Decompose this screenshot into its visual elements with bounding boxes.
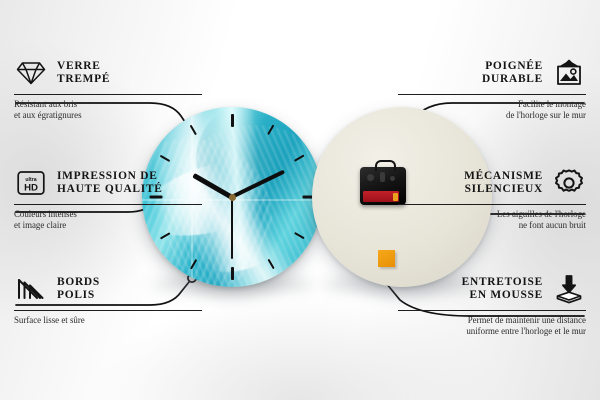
feature-description: Les aiguilles de l'horloge ne font aucun… bbox=[398, 209, 586, 231]
feature-divider bbox=[14, 94, 202, 95]
feature-title: IMPRESSION DE HAUTE QUALITÉ bbox=[57, 170, 163, 197]
feature-title: VERRE TREMPÉ bbox=[57, 60, 110, 87]
feature-description: Surface lisse et sûre bbox=[14, 315, 202, 326]
hanger-tab-icon bbox=[375, 160, 396, 171]
feature-divider bbox=[14, 310, 202, 311]
polished-edges-icon bbox=[14, 272, 48, 306]
ultra-hd-icon: ultra HD bbox=[14, 166, 48, 200]
feature-title: BORDS POLIS bbox=[57, 276, 100, 303]
feature-impression-haute-qualite: ultra HD IMPRESSION DE HAUTE QUALITÉ Cou… bbox=[14, 166, 202, 231]
foam-spacer bbox=[378, 250, 395, 267]
foam-spacer-icon bbox=[552, 272, 586, 306]
feature-poignee-durable: POIGNÉE DURABLE Facilite le montage de l… bbox=[398, 56, 586, 121]
feature-divider bbox=[14, 204, 202, 205]
diamond-icon bbox=[14, 56, 48, 90]
gear-icon bbox=[552, 166, 586, 200]
mechanism-detail-2 bbox=[380, 172, 385, 182]
feature-header: BORDS POLIS bbox=[14, 272, 202, 306]
feature-divider bbox=[398, 310, 586, 311]
feature-divider bbox=[398, 94, 586, 95]
feature-title: POIGNÉE DURABLE bbox=[482, 60, 543, 87]
feature-description: Facilite le montage de l'horloge sur le … bbox=[398, 99, 586, 121]
feature-entretoise-en-mousse: ENTRETOISE EN MOUSSE Permet de maintenir… bbox=[398, 272, 586, 337]
feature-description: Couleurs intenses et image claire bbox=[14, 209, 202, 231]
feature-description: Résistant aux bris et aux égratignures bbox=[14, 99, 202, 121]
feature-header: VERRE TREMPÉ bbox=[14, 56, 202, 90]
clock-tick-6 bbox=[231, 267, 234, 280]
feature-verre-trempe: VERRE TREMPÉ Résistant aux bris et aux é… bbox=[14, 56, 202, 121]
infographic-canvas: VERRE TREMPÉ Résistant aux bris et aux é… bbox=[0, 0, 600, 400]
feature-mecanisme-silencieux: MÉCANISME SILENCIEUX Les aiguilles de l'… bbox=[398, 166, 586, 231]
feature-description: Permet de maintenir une distance uniform… bbox=[398, 315, 586, 337]
feature-header: MÉCANISME SILENCIEUX bbox=[398, 166, 586, 200]
feature-header: POIGNÉE DURABLE bbox=[398, 56, 586, 90]
battery bbox=[363, 191, 399, 202]
picture-hanger-icon bbox=[552, 56, 586, 90]
clock-tick-12 bbox=[231, 114, 234, 127]
feature-title: ENTRETOISE EN MOUSSE bbox=[462, 276, 543, 303]
feature-header: ENTRETOISE EN MOUSSE bbox=[398, 272, 586, 306]
mechanism-detail-3 bbox=[390, 176, 395, 181]
feature-divider bbox=[398, 204, 586, 205]
feature-title: MÉCANISME SILENCIEUX bbox=[464, 170, 543, 197]
svg-text:HD: HD bbox=[24, 182, 38, 193]
clock-center-cap bbox=[229, 194, 236, 201]
feature-header: ultra HD IMPRESSION DE HAUTE QUALITÉ bbox=[14, 166, 202, 200]
mechanism-detail-1 bbox=[367, 174, 374, 181]
clock-second-hand bbox=[231, 197, 233, 259]
feature-bords-polis: BORDS POLIS Surface lisse et sûre bbox=[14, 272, 202, 326]
